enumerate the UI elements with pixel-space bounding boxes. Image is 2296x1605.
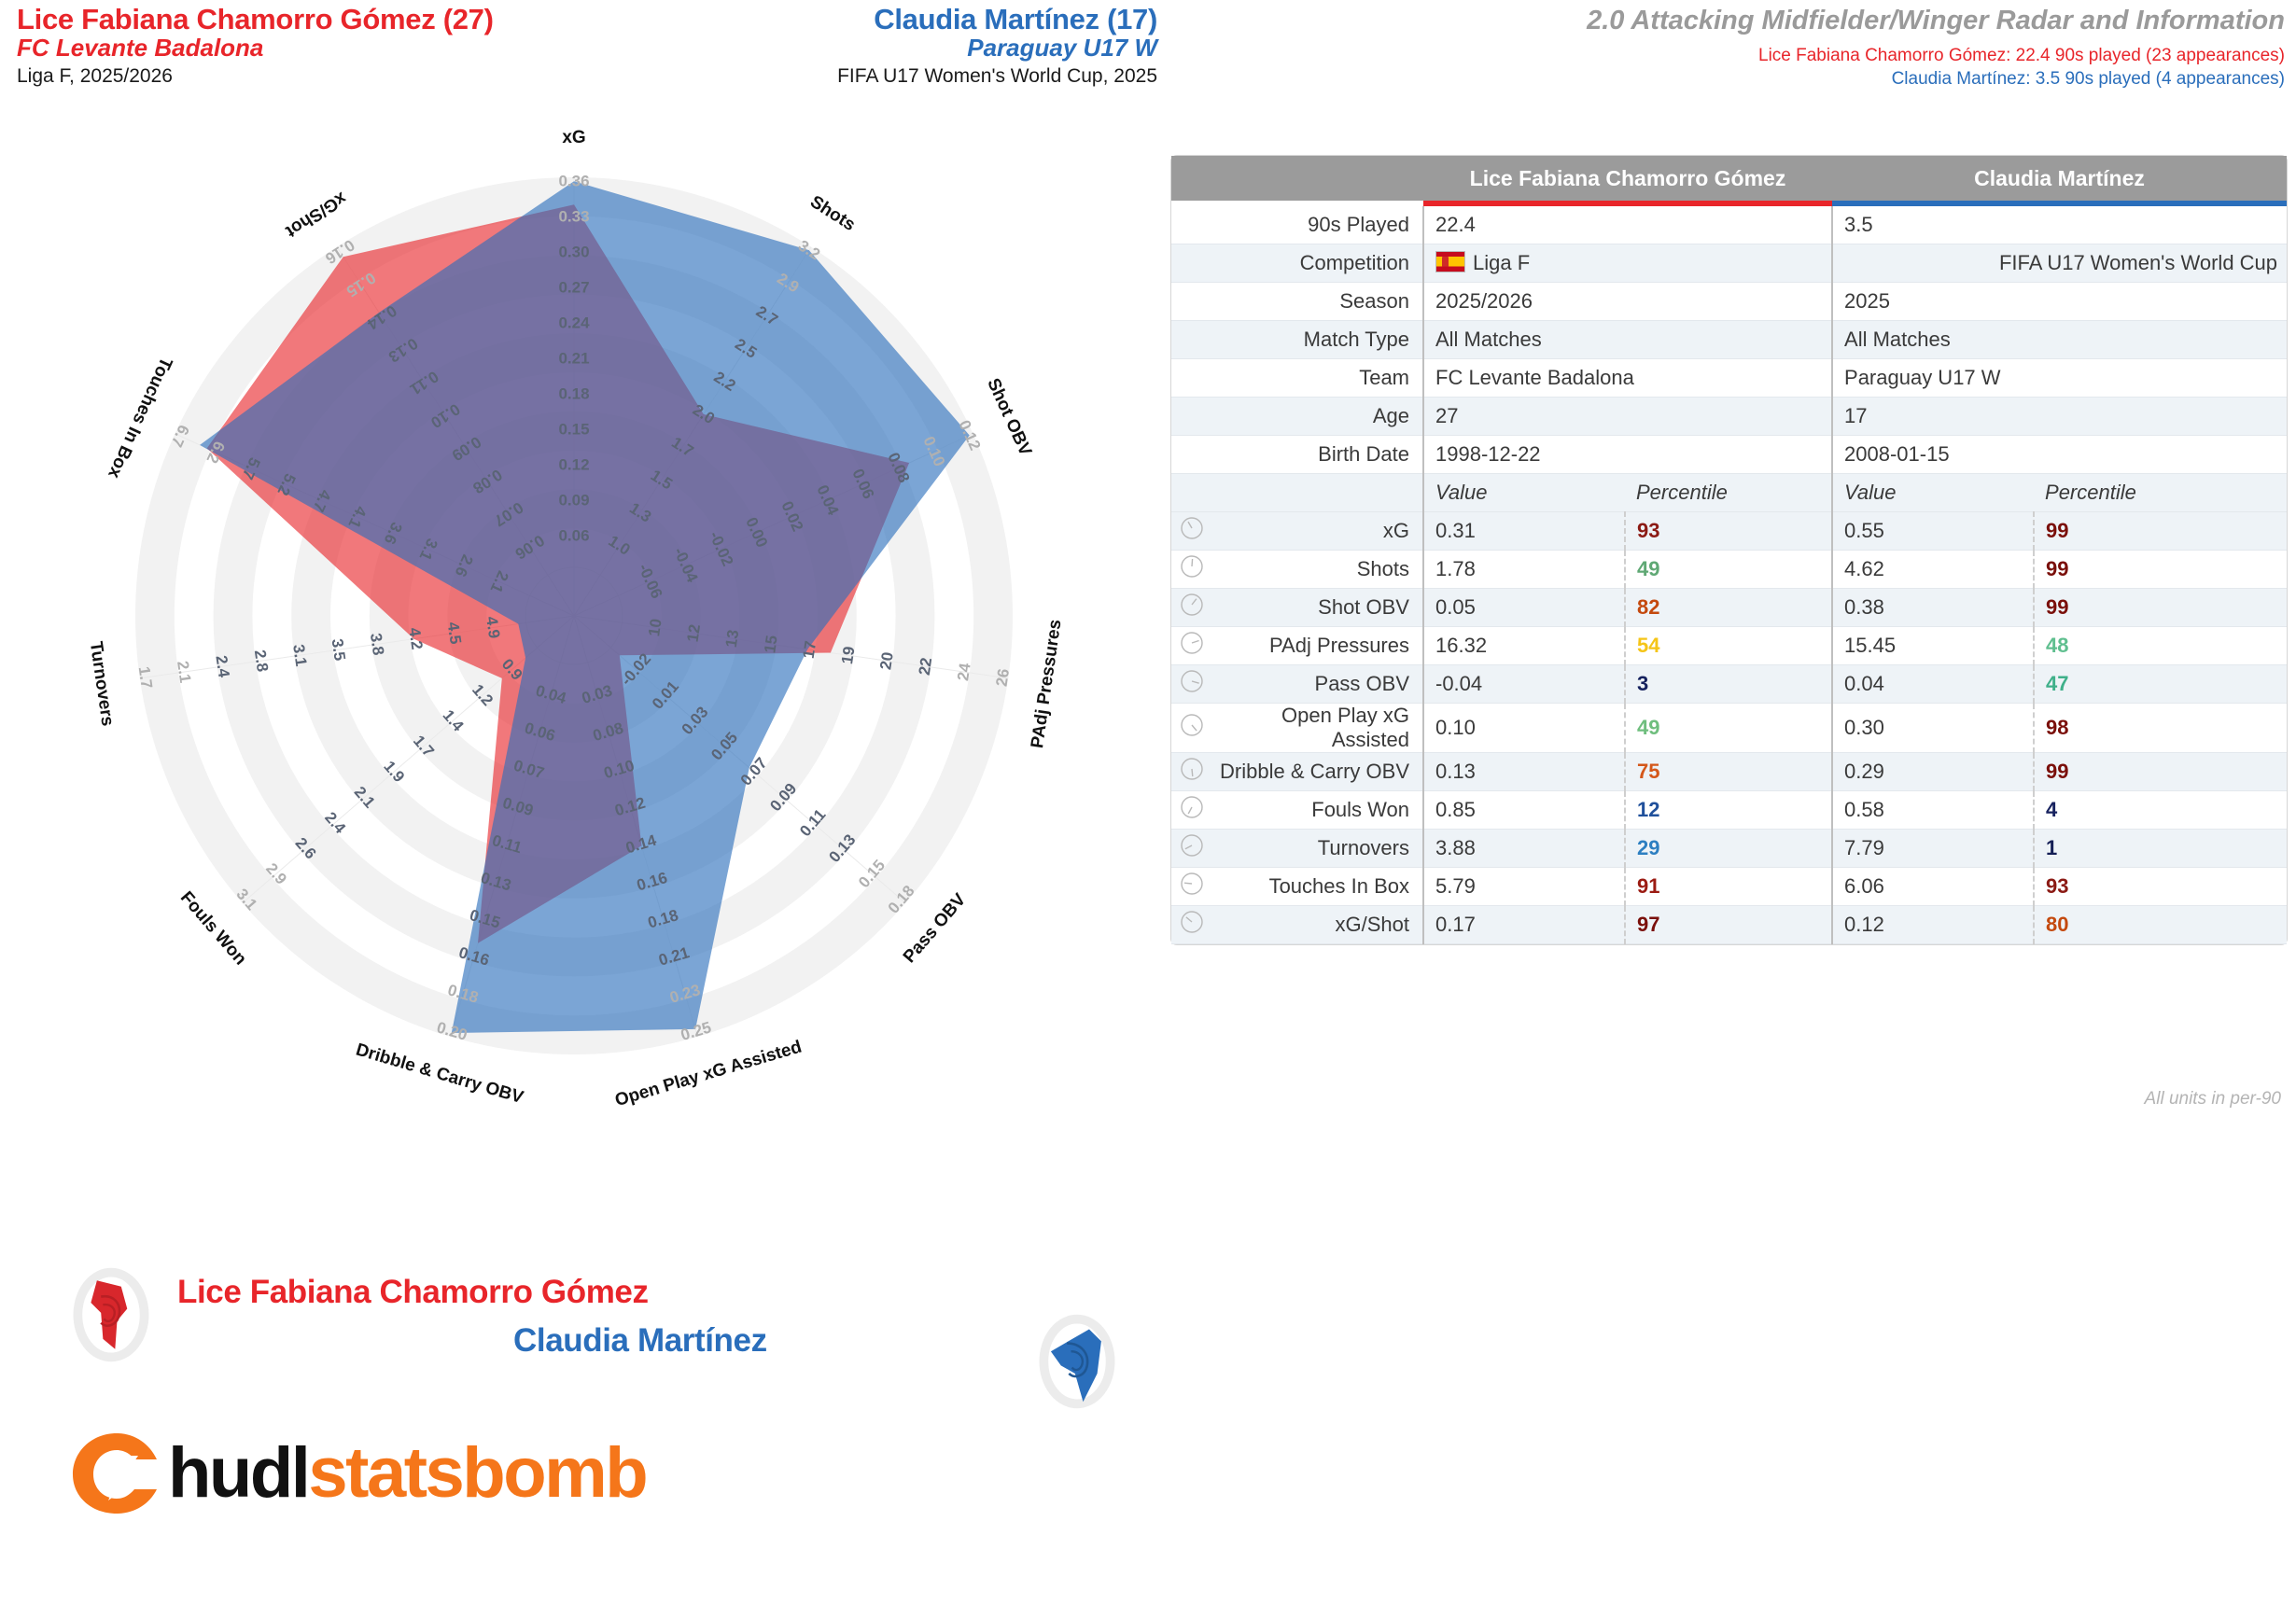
spain-flag-icon (1435, 251, 1465, 272)
subheader-percentile-2: Percentile (2034, 474, 2287, 512)
player2-value: Paraguay U17 W (1832, 359, 2287, 398)
metric-icon-cell (1171, 906, 1212, 944)
metric-player2-value: 0.29 (1832, 753, 2034, 791)
metric-player1-value: 0.13 (1423, 753, 1625, 791)
gauge-icon (1180, 757, 1204, 781)
metric-player2-percentile: 80 (2034, 906, 2287, 944)
metric-player1-value: 1.78 (1423, 551, 1625, 589)
radar-tick-label: 1.7 (135, 665, 156, 690)
metric-player1-percentile: 91 (1625, 868, 1832, 906)
row-label: Age (1212, 398, 1423, 436)
metric-player1-percentile: 3 (1625, 665, 1832, 704)
radar-tick-label: 3.1 (289, 643, 310, 667)
radar-tick-label: 2.8 (251, 649, 272, 673)
metric-player2-percentile: 93 (2034, 868, 2287, 906)
radar-axis-label: xG (562, 128, 585, 147)
metric-player1-value: -0.04 (1423, 665, 1625, 704)
radar-axis-label: xG/Shot (282, 188, 350, 241)
metric-row: Open Play xG Assisted0.10490.3098 (1171, 704, 2287, 753)
metric-label: Fouls Won (1212, 791, 1423, 830)
metric-label: Touches In Box (1212, 868, 1423, 906)
radar-tick-label: 3.8 (367, 632, 387, 656)
metric-row: Shot OBV0.05820.3899 (1171, 589, 2287, 627)
gauge-icon (1180, 669, 1204, 693)
radar-tick-label: 0.21 (558, 349, 589, 367)
table-header-player1: Lice Fabiana Chamorro Gómez (1423, 156, 1832, 201)
metric-player2-percentile: 98 (2034, 704, 2287, 753)
comparison-table: Lice Fabiana Chamorro GómezClaudia Martí… (1171, 156, 2287, 944)
gauge-icon (1180, 833, 1204, 858)
player2-name: Claudia Martínez (17) (616, 4, 1157, 35)
radar-tick-label: 20 (876, 650, 897, 670)
player1-competition-season: Liga F, 2025/2026 (17, 64, 614, 88)
metric-player2-value: 4.62 (1832, 551, 2034, 589)
report-header: 2.0 Attacking Midfielder/Winger Radar an… (1185, 6, 2285, 91)
metric-player1-percentile: 93 (1625, 512, 1832, 551)
metric-player1-percentile: 97 (1625, 906, 1832, 944)
gauge-icon (1180, 631, 1204, 655)
radar-tick-label: 0.24 (558, 314, 590, 331)
table-row: Birth Date1998-12-222008-01-15 (1171, 436, 2287, 474)
radar-tick-label: 2.1 (174, 660, 194, 684)
player1-value: All Matches (1423, 321, 1832, 359)
player1-value: 27 (1423, 398, 1832, 436)
radar-tick-label: 3.5 (329, 637, 349, 662)
radar-tick-label: 26 (993, 667, 1014, 687)
metric-player1-percentile: 75 (1625, 753, 1832, 791)
player2-header: Claudia Martínez (17) Paraguay U17 W FIF… (616, 4, 1157, 89)
metric-icon-cell (1171, 868, 1212, 906)
metric-label: Turnovers (1212, 830, 1423, 868)
player1-value: Liga F (1423, 244, 1832, 283)
brand-hudl: hudl (168, 1438, 308, 1509)
units-footnote: All units in per-90 (1170, 1089, 2281, 1110)
subheader-value-2: Value (1832, 474, 2034, 512)
player2-competition-season: FIFA U17 Women's World Cup, 2025 (616, 64, 1157, 88)
metric-row: PAdj Pressures16.325415.4548 (1171, 627, 2287, 665)
metric-player2-value: 15.45 (1832, 627, 2034, 665)
player2-value: 3.5 (1832, 206, 2287, 244)
table-subheader-row: ValuePercentileValuePercentile (1171, 474, 2287, 512)
metric-player1-value: 0.31 (1423, 512, 1625, 551)
metric-icon-cell (1171, 627, 1212, 665)
metric-label: xG/Shot (1212, 906, 1423, 944)
radar-tick-label: 10 (645, 618, 665, 637)
gauge-icon (1180, 795, 1204, 819)
player1-value: FC Levante Badalona (1423, 359, 1832, 398)
metric-player1-value: 0.05 (1423, 589, 1625, 627)
metric-player2-value: 0.04 (1832, 665, 2034, 704)
table-header-blank (1171, 156, 1423, 201)
row-label: Competition (1212, 244, 1423, 283)
radar-axis-label: Shot OBV (983, 375, 1035, 459)
radar-tick-label: 0.30 (558, 243, 589, 260)
metric-icon-cell (1171, 551, 1212, 589)
metric-player1-percentile: 29 (1625, 830, 1832, 868)
radar-tick-label: 0.36 (558, 172, 589, 189)
player1-team: FC Levante Badalona (17, 35, 614, 63)
metric-player1-value: 0.85 (1423, 791, 1625, 830)
radar-axis-label: Dribble & Carry OBV (354, 1040, 526, 1109)
legend-player1: Lice Fabiana Chamorro Gómez (177, 1274, 649, 1311)
metric-row: Shots1.78494.6299 (1171, 551, 2287, 589)
hudl-statsbomb-logo-icon (65, 1428, 168, 1519)
metric-player2-value: 0.58 (1832, 791, 2034, 830)
player2-minutes: Claudia Martínez: 3.5 90s played (4 appe… (1185, 68, 2285, 91)
radar-tick-label: 4.9 (483, 615, 503, 639)
player2-value: All Matches (1832, 321, 2287, 359)
radar-tick-label: 0.27 (558, 278, 589, 296)
metric-player1-value: 16.32 (1423, 627, 1625, 665)
gauge-icon (1180, 713, 1204, 737)
radar-tick-label: 4.2 (405, 626, 426, 650)
gauge-icon (1180, 910, 1204, 934)
player1-header: Lice Fabiana Chamorro Gómez (27) FC Leva… (17, 4, 614, 89)
radar-tick-label: 19 (838, 646, 859, 665)
metric-player2-value: 6.06 (1832, 868, 2034, 906)
player1-value: 1998-12-22 (1423, 436, 1832, 474)
metric-player1-value: 3.88 (1423, 830, 1625, 868)
metric-player2-value: 0.30 (1832, 704, 2034, 753)
radar-tick-label: 0.06 (558, 526, 589, 544)
metric-icon-cell (1171, 589, 1212, 627)
metric-player2-percentile: 99 (2034, 551, 2287, 589)
metric-row: Touches In Box5.79916.0693 (1171, 868, 2287, 906)
table-header-player2: Claudia Martínez (1832, 156, 2287, 201)
metric-label: Shots (1212, 551, 1423, 589)
radar-tick-label: 15 (761, 635, 781, 654)
table-row: Age2717 (1171, 398, 2287, 436)
player2-value: 2008-01-15 (1832, 436, 2287, 474)
paraguay-u17-w-badge-icon (1027, 1311, 1127, 1412)
row-label: Birth Date (1212, 436, 1423, 474)
page-title: 2.0 Attacking Midfielder/Winger Radar an… (1185, 6, 2285, 35)
metric-icon-cell (1171, 512, 1212, 551)
metric-icon-cell (1171, 791, 1212, 830)
metric-player2-percentile: 47 (2034, 665, 2287, 704)
gauge-icon (1180, 593, 1204, 617)
metric-player2-value: 0.38 (1832, 589, 2034, 627)
brand-statsbomb: statsbomb (308, 1438, 646, 1509)
radar-tick-label: 12 (684, 623, 705, 643)
gauge-icon (1180, 516, 1204, 540)
radar-tick-label: 17 (800, 640, 820, 660)
metric-label: Pass OBV (1212, 665, 1423, 704)
table-row: CompetitionLiga FFIFA U17 Women's World … (1171, 244, 2287, 283)
metric-player2-percentile: 99 (2034, 589, 2287, 627)
metric-player1-percentile: 82 (1625, 589, 1832, 627)
metric-player1-value: 0.17 (1423, 906, 1625, 944)
metric-label: PAdj Pressures (1212, 627, 1423, 665)
radar-tick-label: 4.5 (444, 621, 465, 645)
metric-icon-cell (1171, 753, 1212, 791)
player1-minutes: Lice Fabiana Chamorro Gómez: 22.4 90s pl… (1185, 45, 2285, 68)
player2-value: 17 (1832, 398, 2287, 436)
metric-label: Shot OBV (1212, 589, 1423, 627)
metric-row: xG0.31930.5599 (1171, 512, 2287, 551)
metric-player2-percentile: 48 (2034, 627, 2287, 665)
metric-icon-cell (1171, 665, 1212, 704)
metric-row: Dribble & Carry OBV0.13750.2999 (1171, 753, 2287, 791)
metric-player2-percentile: 99 (2034, 753, 2287, 791)
metric-player1-percentile: 49 (1625, 704, 1832, 753)
legend-player2-name: Claudia Martínez (513, 1322, 767, 1360)
table-row: Season2025/20262025 (1171, 283, 2287, 321)
metric-player1-percentile: 12 (1625, 791, 1832, 830)
legend: Lice Fabiana Chamorro Gómez Claudia Mart… (37, 1264, 1157, 1404)
metric-player2-percentile: 1 (2034, 830, 2287, 868)
row-label: Match Type (1212, 321, 1423, 359)
metric-player2-value: 0.12 (1832, 906, 2034, 944)
legend-player2: Claudia Martínez (513, 1322, 767, 1360)
gauge-icon (1180, 554, 1204, 579)
row-label: 90s Played (1212, 206, 1423, 244)
table-row: 90s Played22.43.5 (1171, 206, 2287, 244)
metric-icon-cell (1171, 704, 1212, 753)
player1-value: 22.4 (1423, 206, 1832, 244)
radar-tick-label: 2.4 (212, 654, 232, 679)
player2-value: 2025 (1832, 283, 2287, 321)
row-label: Season (1212, 283, 1423, 321)
row-label: Team (1212, 359, 1423, 398)
table-row: TeamFC Levante BadalonaParaguay U17 W (1171, 359, 2287, 398)
comparison-table-body: Lice Fabiana Chamorro GómezClaudia Martí… (1171, 156, 2287, 944)
player1-name: Lice Fabiana Chamorro Gómez (27) (17, 4, 614, 35)
metric-label: xG (1212, 512, 1423, 551)
radar-chart: 0.360.330.300.270.240.210.180.150.120.09… (0, 121, 1148, 1241)
comparison-table-wrapper: Lice Fabiana Chamorro GómezClaudia Martí… (1171, 156, 2287, 944)
radar-tick-label: 0.18 (558, 384, 589, 402)
metric-player2-value: 7.79 (1832, 830, 2034, 868)
radar-axis-label: Shots (806, 192, 859, 235)
metric-icon-cell (1171, 830, 1212, 868)
metric-row: Fouls Won0.85120.584 (1171, 791, 2287, 830)
radar-tick-label: 22 (916, 656, 936, 676)
subheader-value-1: Value (1423, 474, 1625, 512)
subheader-percentile-1: Percentile (1625, 474, 1832, 512)
radar-axis-label: PAdj Pressures (1028, 619, 1066, 750)
hudl-statsbomb-brand: hudl statsbomb (65, 1428, 646, 1519)
player1-value: 2025/2026 (1423, 283, 1832, 321)
radar-tick-label: 0.12 (558, 455, 589, 473)
metric-row: Turnovers3.88297.791 (1171, 830, 2287, 868)
legend-player1-name: Lice Fabiana Chamorro Gómez (177, 1274, 649, 1311)
metric-player2-percentile: 99 (2034, 512, 2287, 551)
gauge-icon (1180, 872, 1204, 896)
player2-team: Paraguay U17 W (616, 35, 1157, 63)
radar-tick-label: 13 (722, 629, 743, 649)
metric-row: Pass OBV-0.0430.0447 (1171, 665, 2287, 704)
radar-tick-label: 0.33 (558, 207, 589, 225)
radar-tick-label: 24 (954, 662, 974, 682)
metric-player1-value: 0.10 (1423, 704, 1625, 753)
metric-row: xG/Shot0.17970.1280 (1171, 906, 2287, 944)
table-header-row: Lice Fabiana Chamorro GómezClaudia Martí… (1171, 156, 2287, 201)
metric-player1-percentile: 54 (1625, 627, 1832, 665)
metric-player2-percentile: 4 (2034, 791, 2287, 830)
radar-axis-label: Turnovers (86, 640, 118, 728)
table-row: Match TypeAll MatchesAll Matches (1171, 321, 2287, 359)
player2-value: FIFA U17 Women's World Cup (1832, 244, 2287, 283)
metric-player2-value: 0.55 (1832, 512, 2034, 551)
radar-tick-label: 0.09 (558, 491, 589, 509)
metric-player1-percentile: 49 (1625, 551, 1832, 589)
radar-tick-label: 0.15 (558, 420, 589, 438)
fc-levante-badalona-badge-icon (61, 1264, 161, 1365)
metric-label: Open Play xG Assisted (1212, 704, 1423, 753)
metric-label: Dribble & Carry OBV (1212, 753, 1423, 791)
metric-player1-value: 5.79 (1423, 868, 1625, 906)
radar-svg: 0.360.330.300.270.240.210.180.150.120.09… (0, 121, 1148, 1241)
